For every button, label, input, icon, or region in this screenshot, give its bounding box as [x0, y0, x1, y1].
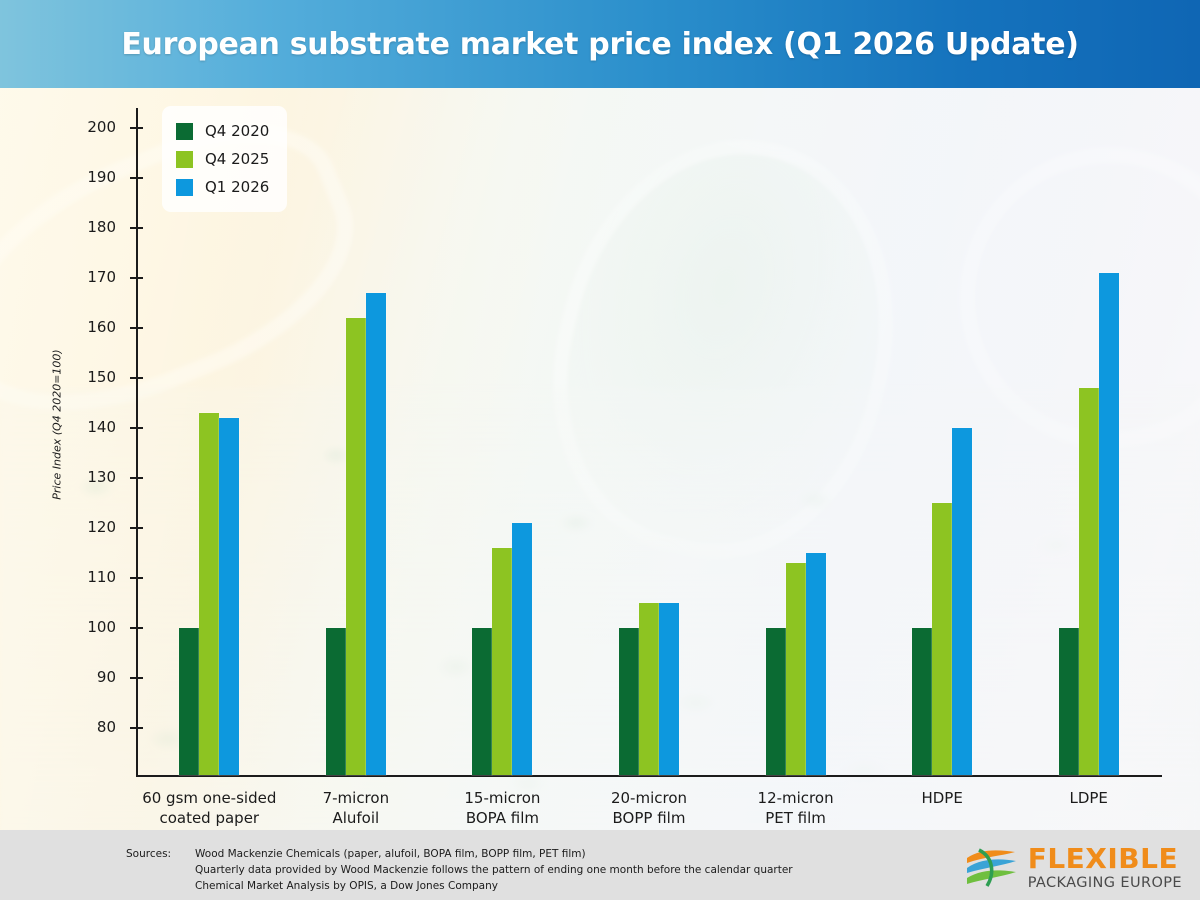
logo-text: FLEXIBLE PACKAGING EUROPE: [1028, 845, 1182, 891]
bar-q4-2025: [199, 413, 219, 775]
y-axis-tick-label: 140: [0, 418, 130, 436]
sources-line: Quarterly data provided by Wood Mackenzi…: [195, 863, 793, 879]
bar-q4-2025: [932, 503, 952, 775]
y-axis-tick-label: 170: [0, 268, 130, 286]
bar-q4-2025: [786, 563, 806, 775]
y-axis-tick-label: 190: [0, 168, 130, 186]
bar-q4-2025: [639, 603, 659, 775]
x-axis-category-label: 60 gsm one-sidedcoated paper: [136, 789, 283, 829]
bar-q1-2026: [366, 293, 386, 775]
bar-q4-2025: [346, 318, 366, 775]
chart-page: European substrate market price index (Q…: [0, 0, 1200, 900]
y-axis-tick: [130, 277, 143, 279]
y-axis-tick: [130, 427, 143, 429]
bar-q4-2020: [766, 628, 786, 775]
x-axis-category-label: 7-micronAlufoil: [283, 789, 430, 829]
bar-q4-2020: [619, 628, 639, 775]
y-axis-tick: [130, 577, 143, 579]
bar-q4-2020: [912, 628, 932, 775]
y-axis-tick: [130, 627, 143, 629]
y-axis-tick-label: 200: [0, 118, 130, 136]
y-axis-tick-label: 150: [0, 368, 130, 386]
logo-sub-text: PACKAGING EUROPE: [1028, 876, 1182, 891]
y-axis-tick-label: 100: [0, 618, 130, 636]
sources-text: Wood Mackenzie Chemicals (paper, alufoil…: [195, 847, 793, 895]
bar-q4-2025: [492, 548, 512, 775]
logo-swoosh-icon: [965, 847, 1019, 889]
y-axis-tick: [130, 327, 143, 329]
x-axis-category-label: HDPE: [869, 789, 1016, 809]
bar-q1-2026: [219, 418, 239, 775]
legend-item[interactable]: Q1 2026: [176, 173, 269, 201]
y-axis-tick-label: 180: [0, 218, 130, 236]
x-axis-category-label: LDPE: [1015, 789, 1162, 809]
chart-legend: Q4 2020Q4 2025Q1 2026: [162, 106, 287, 212]
y-axis-tick: [130, 377, 143, 379]
bar-q1-2026: [659, 603, 679, 775]
sources-label: Sources:: [126, 848, 171, 860]
bar-q4-2020: [1059, 628, 1079, 775]
legend-item-label: Q1 2026: [205, 178, 269, 196]
y-axis-tick-label: 80: [0, 718, 130, 736]
legend-item[interactable]: Q4 2025: [176, 145, 269, 173]
legend-item-label: Q4 2025: [205, 150, 269, 168]
bar-q1-2026: [1099, 273, 1119, 775]
legend-item[interactable]: Q4 2020: [176, 117, 269, 145]
y-axis-line: [136, 108, 138, 775]
flexible-packaging-europe-logo: FLEXIBLE PACKAGING EUROPE: [965, 845, 1182, 891]
y-axis-tick: [130, 227, 143, 229]
sources-line: Chemical Market Analysis by OPIS, a Dow …: [195, 879, 793, 895]
bar-q4-2020: [326, 628, 346, 775]
x-axis-category-label: 20-micronBOPP film: [576, 789, 723, 829]
y-axis-tick: [130, 527, 143, 529]
y-axis-tick-label: 160: [0, 318, 130, 336]
bar-q4-2025: [1079, 388, 1099, 775]
y-axis-tick: [130, 727, 143, 729]
y-axis-tick-label: 120: [0, 518, 130, 536]
x-axis-category-label: 15-micronBOPA film: [429, 789, 576, 829]
y-axis-tick-label: 110: [0, 568, 130, 586]
y-axis-tick: [130, 127, 143, 129]
bar-q4-2020: [472, 628, 492, 775]
header-banner: European substrate market price index (Q…: [0, 0, 1200, 88]
logo-main-text: FLEXIBLE: [1028, 845, 1182, 873]
y-axis-tick: [130, 177, 143, 179]
legend-item-label: Q4 2020: [205, 122, 269, 140]
bar-q1-2026: [952, 428, 972, 775]
legend-swatch-icon: [176, 151, 193, 168]
chart-canvas: Price Index (Q4 2020=100) 20019018017016…: [0, 88, 1200, 830]
x-axis-category-label: 12-micronPET film: [722, 789, 869, 829]
y-axis-tick: [130, 477, 143, 479]
bar-q4-2020: [179, 628, 199, 775]
legend-swatch-icon: [176, 179, 193, 196]
bar-q1-2026: [806, 553, 826, 775]
y-axis-tick-label: 90: [0, 668, 130, 686]
x-axis-line: [136, 775, 1162, 777]
y-axis-tick-label: 130: [0, 468, 130, 486]
sources-line: Wood Mackenzie Chemicals (paper, alufoil…: [195, 847, 793, 863]
bar-q1-2026: [512, 523, 532, 775]
legend-swatch-icon: [176, 123, 193, 140]
page-title: European substrate market price index (Q…: [121, 27, 1078, 62]
y-axis-tick: [130, 677, 143, 679]
